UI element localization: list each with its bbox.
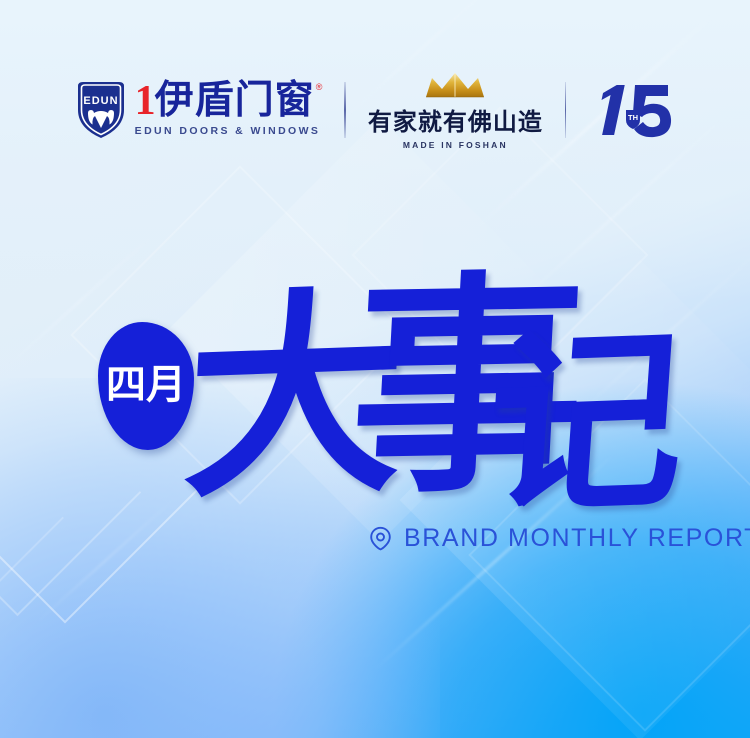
- location-pin-icon: [368, 526, 393, 551]
- anniversary-badge: TH: [588, 79, 676, 141]
- poster-canvas: EDUN 1 伊盾门窗 ® EDUN DOORS & WINDOWS: [0, 0, 750, 738]
- subtitle-row: BRAND MONTHLY REPORT: [368, 524, 750, 553]
- subtitle-label: BRAND MONTHLY REPORT: [404, 524, 750, 553]
- headline-char-3: 记: [481, 323, 691, 526]
- edun-shield-logo: EDUN: [74, 80, 128, 140]
- logo-numeral-accent: 1: [135, 82, 154, 121]
- foshan-badge: 有家就有佛山造 MADE IN FOSHAN: [368, 71, 543, 150]
- svg-text:EDUN: EDUN: [83, 95, 118, 107]
- foshan-slogan-en: MADE IN FOSHAN: [403, 140, 508, 150]
- header-logo-row: EDUN 1 伊盾门窗 ® EDUN DOORS & WINDOWS: [0, 66, 750, 154]
- logo-name-en: EDUN DOORS & WINDOWS: [135, 125, 323, 137]
- month-seal: 四月: [98, 322, 194, 450]
- foshan-slogan-cn: 有家就有佛山造: [368, 102, 543, 137]
- gold-crown-icon: [424, 71, 486, 101]
- header-divider-1: [344, 82, 346, 138]
- title-block: 四月 大 事 记 BRAND MONTHLY REPORT: [0, 280, 750, 570]
- registered-trademark-icon: ®: [316, 82, 323, 92]
- seal-month-label: 四月: [98, 322, 194, 450]
- fifteenth-anniversary-icon: TH: [588, 79, 676, 141]
- svg-text:TH: TH: [628, 113, 638, 122]
- brand-logo-lockup: EDUN 1 伊盾门窗 ® EDUN DOORS & WINDOWS: [74, 80, 323, 140]
- header-divider-2: [565, 82, 567, 138]
- logo-name-cn: 伊盾门窗: [155, 82, 315, 119]
